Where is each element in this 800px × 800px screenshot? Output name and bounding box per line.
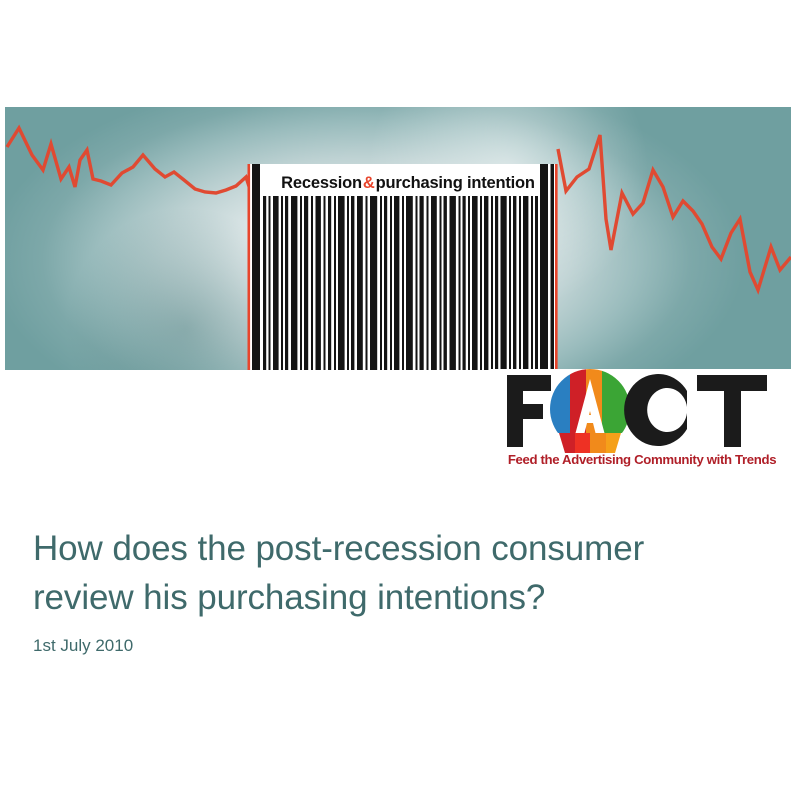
logo-letter-c	[624, 374, 687, 446]
page-title-line-1: How does the post-recession consumer	[33, 524, 763, 573]
fact-logo-tagline: Feed the Advertising Community with Tren…	[489, 452, 795, 467]
page-title: How does the post-recession consumer rev…	[33, 524, 763, 622]
barcode-right-red-line	[555, 164, 558, 370]
trend-line-left	[7, 128, 267, 212]
slide-date: 1st July 2010	[33, 636, 763, 656]
fact-logo-mark	[489, 369, 795, 453]
barcode-caption-part-2: purchasing intention	[376, 174, 535, 193]
fact-logo: Feed the Advertising Community with Tren…	[489, 369, 795, 481]
title-slide: Recession & purchasing intention	[0, 0, 800, 800]
barcode-graphic: Recession & purchasing intention	[243, 164, 563, 370]
logo-letter-f	[507, 375, 551, 447]
barcode-left-red-line	[248, 164, 251, 370]
headline-block: How does the post-recession consumer rev…	[33, 524, 763, 656]
barcode-caption: Recession & purchasing intention	[265, 170, 551, 196]
hero-banner: Recession & purchasing intention	[5, 107, 791, 370]
trend-line-right	[558, 135, 791, 290]
page-title-line-2: review his purchasing intentions?	[33, 573, 763, 622]
barcode-caption-ampersand: &	[362, 174, 376, 193]
logo-letter-t	[697, 375, 767, 447]
logo-wheel-skirt	[559, 433, 622, 453]
barcode-caption-part-1: Recession	[281, 174, 362, 193]
